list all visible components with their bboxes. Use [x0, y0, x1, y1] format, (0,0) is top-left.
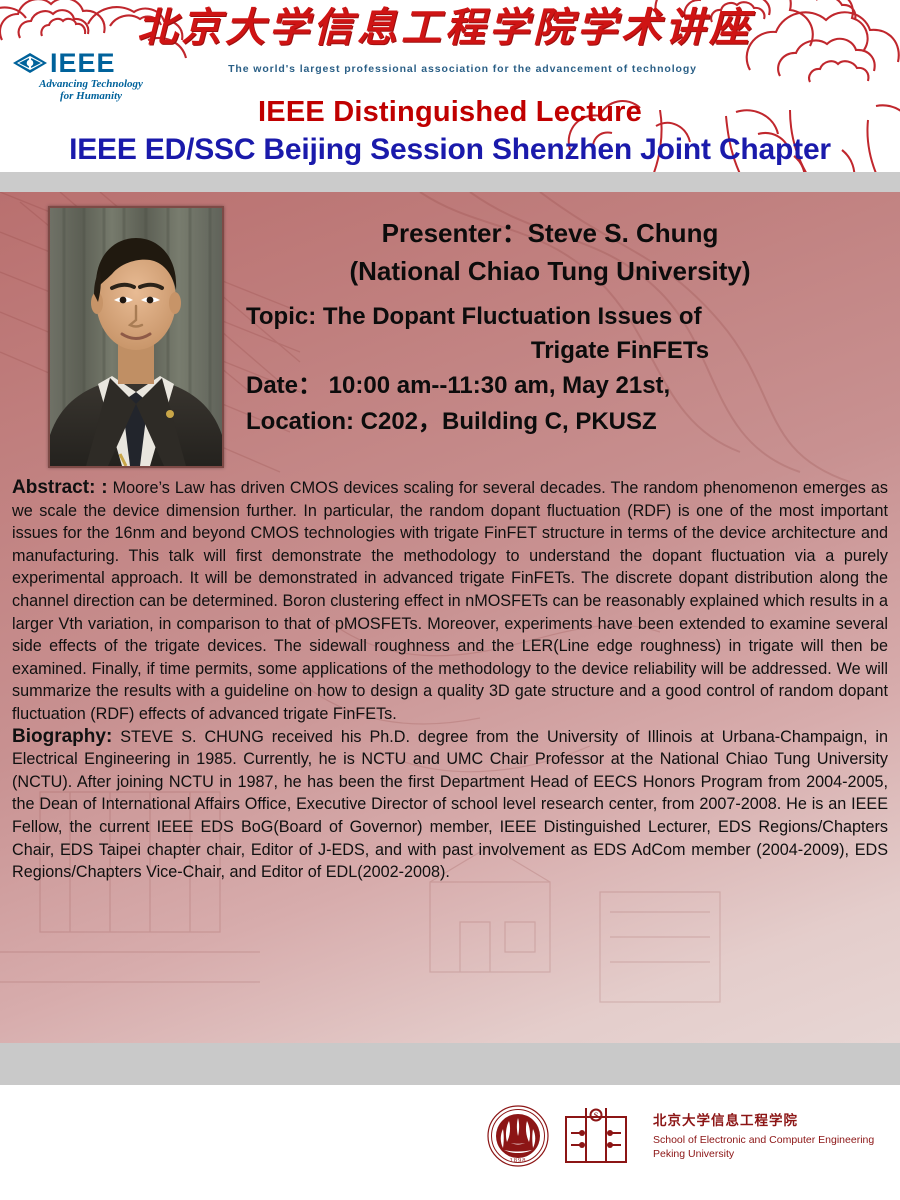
seal-year: 1898 [510, 1157, 527, 1164]
affiliation-line: (National Chiao Tung University) [240, 252, 890, 290]
poster-header: 北京大学信息工程学院学术讲座 IEEE Advancing Technology… [0, 0, 900, 172]
header-divider-band [0, 172, 900, 192]
footer-school-en-1: School of Electronic and Computer Engine… [653, 1133, 874, 1147]
chapter-title: IEEE ED/SSC Beijing Session Shenzhen Joi… [0, 133, 900, 167]
poster-footer: 1898 S 北京大学信息工程学院 School o [0, 1085, 900, 1200]
biography-paragraph: Biography: STEVE S. CHUNG received his P… [12, 726, 888, 884]
location-line: Location: C202，Building C, PKUSZ [240, 404, 890, 440]
date-line: Date： 10:00 am--11:30 am, May 21st, [240, 368, 890, 404]
ieee-logo-wordmark: IEEE [50, 50, 116, 77]
main-content-panel: Presenter：Steve S. Chung (National Chiao… [0, 192, 900, 1043]
abstract-heading: Abstract: : [12, 477, 108, 498]
biography-body: STEVE S. CHUNG received his Ph.D. degree… [12, 728, 888, 882]
presenter-photo [48, 206, 224, 468]
chinese-lecture-series-title: 北京大学信息工程学院学术讲座 [105, 5, 785, 51]
footer-text-block: 北京大学信息工程学院 School of Electronic and Comp… [653, 1112, 874, 1161]
poster-root: 北京大学信息工程学院学术讲座 IEEE Advancing Technology… [0, 0, 900, 1200]
footer-divider-band [0, 1043, 900, 1085]
abstract-and-biography: Abstract: : Moore’s Law has driven CMOS … [12, 477, 888, 884]
peking-university-seal-icon: 1898 [487, 1105, 549, 1167]
lecture-title: IEEE Distinguished Lecture [0, 96, 900, 129]
ieee-tagline-line1: Advancing Technology [18, 78, 164, 90]
ieee-strapline: The world's largest professional associa… [190, 63, 735, 75]
presenter-line: Presenter：Steve S. Chung [240, 214, 890, 252]
school-emblem-icon: S [563, 1107, 629, 1165]
abstract-body: Moore’s Law has driven CMOS devices scal… [12, 479, 888, 723]
abstract-paragraph: Abstract: : Moore’s Law has driven CMOS … [12, 477, 888, 726]
topic-line-1: Topic: The Dopant Fluctuation Issues of [240, 300, 890, 334]
ieee-diamond-icon [12, 52, 48, 74]
svg-text:S: S [594, 1111, 599, 1120]
footer-school-cn: 北京大学信息工程学院 [653, 1112, 874, 1130]
topic-line-2: Trigate FinFETs [240, 334, 890, 368]
footer-school-en-2: Peking University [653, 1147, 874, 1161]
biography-heading: Biography: [12, 726, 112, 747]
event-details: Presenter：Steve S. Chung (National Chiao… [240, 214, 890, 440]
